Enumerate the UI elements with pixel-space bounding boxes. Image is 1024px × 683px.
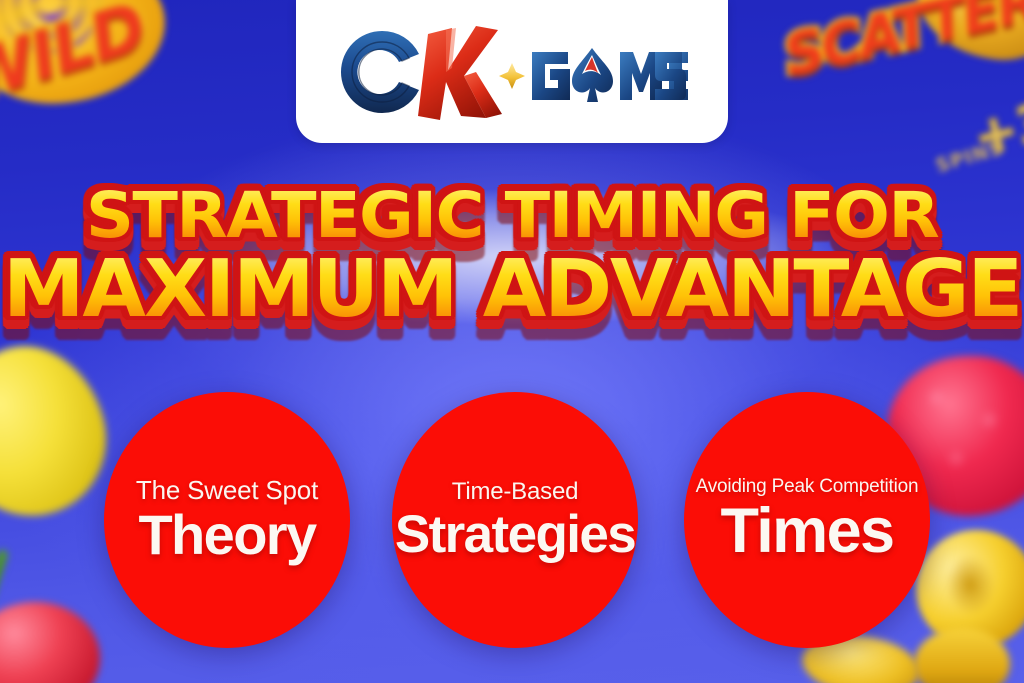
bubble-subtitle: Avoiding Peak Competition <box>696 477 919 496</box>
logo-o-mark <box>341 30 419 112</box>
free-spins-count: +3 <box>968 91 1024 169</box>
free-spins-label: SPINS <box>933 137 1006 177</box>
topic-bubble-peak-competition-times[interactable]: Avoiding Peak Competition Times <box>684 392 930 648</box>
scatter-symbol: SCATTER +3 SPINS <box>776 0 1024 190</box>
bubble-title: Theory <box>138 507 315 563</box>
scatter-coin-icon <box>907 0 1024 72</box>
topic-bubble-group: The Sweet Spot Theory Time-Based Strateg… <box>0 392 1024 660</box>
logo-k-mark <box>418 26 502 120</box>
logo-games-s <box>655 52 686 100</box>
wild-gold-backing <box>0 0 175 115</box>
bubble-title: Strategies <box>395 508 635 561</box>
okgames-logo <box>336 24 688 120</box>
headline-line-2: MAXIMUM ADVANTAGE <box>0 252 1024 328</box>
bubble-title: Times <box>721 500 894 563</box>
wild-spiral-icon <box>0 0 102 54</box>
promotional-banner: WILD SCATTER +3 SPINS <box>0 0 1024 683</box>
bubble-subtitle: The Sweet Spot <box>136 477 318 503</box>
scatter-symbol-label: SCATTER <box>778 0 1024 89</box>
topic-bubble-time-based-strategies[interactable]: Time-Based Strategies <box>392 392 638 648</box>
page-title: STRATEGIC TIMING FOR MAXIMUM ADVANTAGE <box>0 186 1024 328</box>
wild-symbol: WILD <box>0 0 214 166</box>
topic-bubble-sweet-spot-theory[interactable]: The Sweet Spot Theory <box>104 392 350 648</box>
sparkle-icon <box>499 63 525 89</box>
wild-symbol-label: WILD <box>0 0 153 117</box>
headline-line-1: STRATEGIC TIMING FOR <box>0 186 1024 246</box>
bubble-subtitle: Time-Based <box>452 480 579 504</box>
brand-logo-panel[interactable] <box>296 0 728 143</box>
